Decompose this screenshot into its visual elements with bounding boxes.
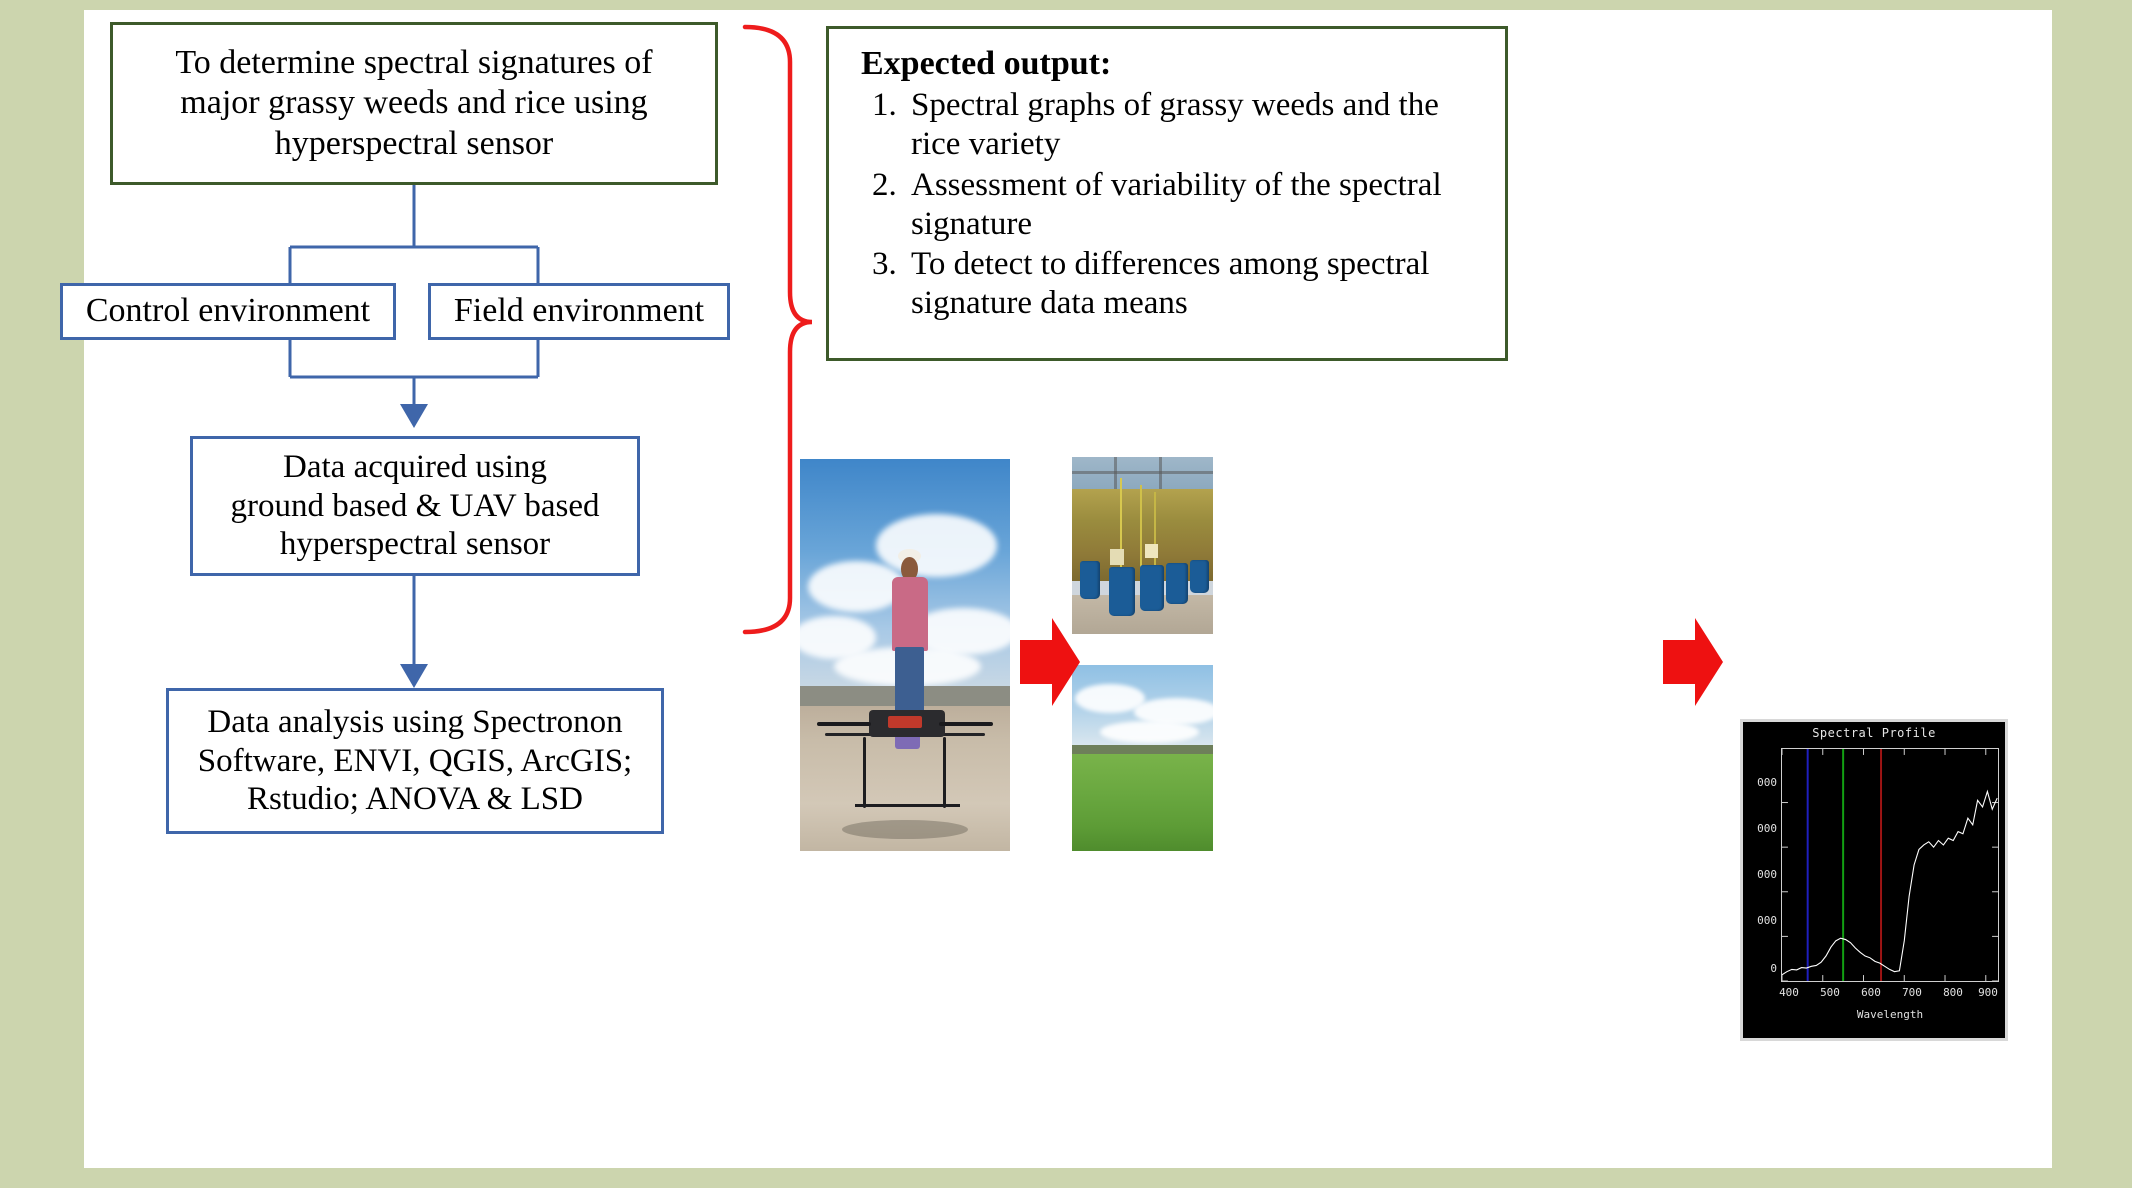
photo-rice-field <box>1072 665 1213 851</box>
drone-landing-skid <box>855 804 960 807</box>
y-tick-label: 000 <box>1741 822 1777 835</box>
objective-line-1: To determine spectral signatures of <box>175 43 652 83</box>
rice-paddy <box>1072 754 1213 851</box>
expected-output-title: Expected output: <box>847 45 1487 83</box>
expected-output-list: Spectral graphs of grassy weeds and the … <box>905 86 1487 324</box>
data-analysis-box: Data analysis using Spectronon Software,… <box>166 688 664 834</box>
blue-pot <box>1080 561 1100 598</box>
greenhouse-beam <box>1072 471 1213 474</box>
x-tick-label: 600 <box>1854 986 1888 999</box>
expected-output-item: Assessment of variability of the spectra… <box>905 166 1487 245</box>
chart-band-markers <box>1808 749 1881 981</box>
data-analysis-line-3: Rstudio; ANOVA & LSD <box>198 780 632 819</box>
drone-landing-leg <box>863 737 866 808</box>
y-tick-label: 000 <box>1741 914 1777 927</box>
y-tick-label: 000 <box>1741 776 1777 789</box>
y-tick-label: 0 <box>1741 962 1777 975</box>
blue-pot <box>1190 560 1208 594</box>
photo-greenhouse-pots <box>1072 457 1213 634</box>
x-tick-label: 900 <box>1971 986 2005 999</box>
objective-line-3: hyperspectral sensor <box>175 124 652 164</box>
control-environment-box: Control environment <box>60 283 396 340</box>
x-tick-label: 400 <box>1772 986 1806 999</box>
drone-propeller <box>939 722 994 726</box>
drone-accent <box>888 716 922 728</box>
data-analysis-line-1: Data analysis using Spectronon <box>198 703 632 742</box>
objective-box: To determine spectral signatures of majo… <box>110 22 718 185</box>
chart-x-axis-label: Wavelength <box>1781 1008 1999 1021</box>
spectral-profile-chart: Spectral Profile 0 000 000 000 000 400 5… <box>1740 719 2008 1041</box>
cloud-shape <box>808 561 905 612</box>
photo-researcher-with-uav <box>800 459 1010 851</box>
chart-plot-area <box>1781 748 1999 982</box>
data-acquired-line-2: ground based & UAV based <box>230 487 599 526</box>
data-acquired-line-1: Data acquired using <box>230 448 599 487</box>
x-tick-label: 700 <box>1895 986 1929 999</box>
control-environment-label: Control environment <box>86 291 370 331</box>
drone-landing-leg <box>943 737 946 808</box>
plant-stalk <box>1140 485 1142 570</box>
blue-pot <box>1109 567 1136 617</box>
slide-canvas: To determine spectral signatures of majo… <box>0 0 2132 1188</box>
data-acquired-box: Data acquired using ground based & UAV b… <box>190 436 640 576</box>
chart-tick-marks <box>1782 749 1998 981</box>
red-arrow-1 <box>1020 618 1080 706</box>
cloud-shape <box>876 514 998 577</box>
expected-output-item: To detect to differences among spectral … <box>905 245 1487 324</box>
x-tick-label: 500 <box>1813 986 1847 999</box>
blue-pot <box>1166 563 1187 604</box>
drone-shadow <box>842 820 968 840</box>
plant-stalk <box>1154 492 1156 570</box>
chart-title: Spectral Profile <box>1743 726 2005 740</box>
data-acquired-line-3: hyperspectral sensor <box>230 525 599 564</box>
expected-output-box: Expected output: Spectral graphs of gras… <box>826 26 1508 361</box>
data-analysis-line-2: Software, ENVI, QGIS, ArcGIS; <box>198 742 632 781</box>
drone-propeller <box>817 722 872 726</box>
cloud-shape <box>1100 721 1199 743</box>
x-tick-label: 800 <box>1936 986 1970 999</box>
expected-output-item: Spectral graphs of grassy weeds and the … <box>905 86 1487 165</box>
objective-line-2: major grassy weeds and rice using <box>175 83 652 123</box>
chart-series-line <box>1782 791 1997 974</box>
red-arrow-2 <box>1663 618 1723 706</box>
plant-label-tag <box>1110 549 1124 565</box>
field-environment-label: Field environment <box>454 291 704 331</box>
blue-pot <box>1140 565 1164 611</box>
chart-svg <box>1782 749 1998 981</box>
plant-label-tag <box>1145 544 1158 558</box>
y-tick-label: 000 <box>1741 868 1777 881</box>
field-environment-box: Field environment <box>428 283 730 340</box>
person-torso <box>892 577 928 651</box>
